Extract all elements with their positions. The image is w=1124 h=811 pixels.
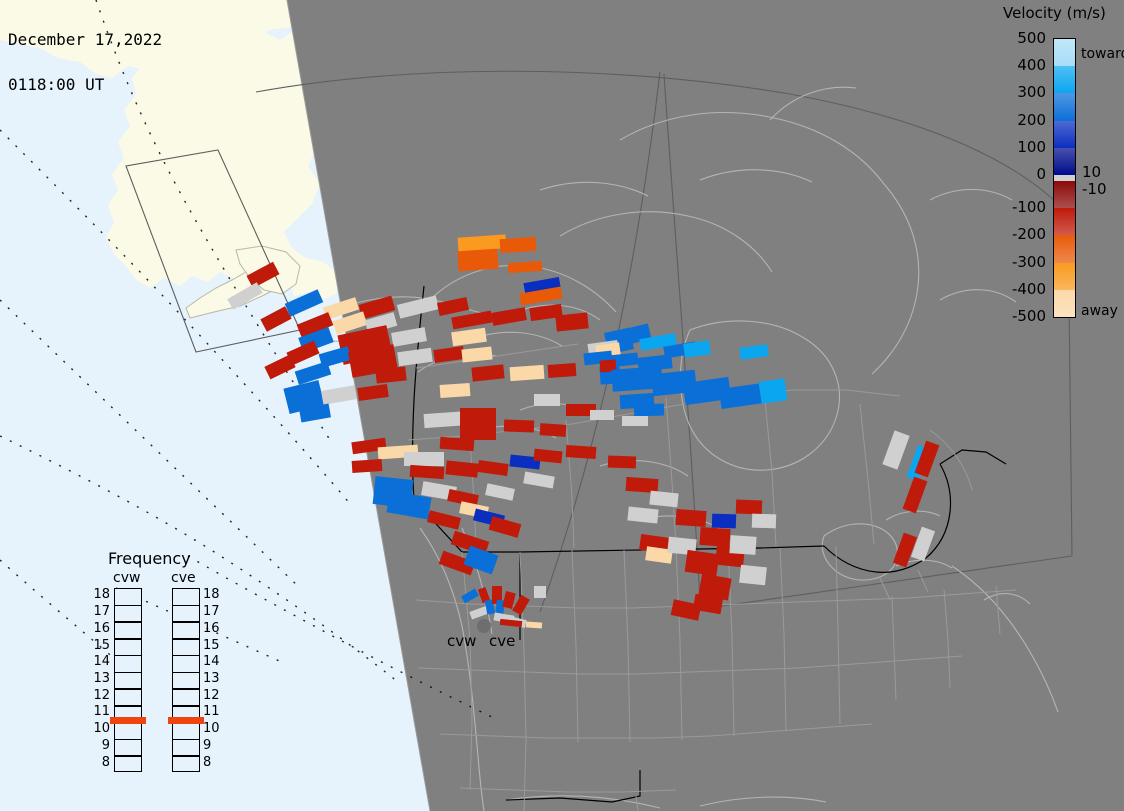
colorbar-toward-label: toward bbox=[1081, 46, 1124, 62]
frequency-marker-cvw bbox=[110, 717, 146, 724]
frequency-gridline bbox=[173, 739, 199, 741]
frequency-gridline bbox=[173, 655, 199, 657]
frequency-channel-label-cve: cve bbox=[171, 570, 196, 586]
frequency-gridline bbox=[115, 621, 141, 623]
frequency-gridline bbox=[115, 672, 141, 674]
frequency-gridline bbox=[115, 705, 141, 707]
colorbar-inner-neg-label: -10 bbox=[1082, 180, 1107, 198]
frequency-tick-18: 18 bbox=[90, 587, 110, 602]
frequency-gridline bbox=[115, 755, 141, 757]
timestamp-block: December 17,2022 0118:00 UT bbox=[8, 2, 162, 122]
site-label-cve: cve bbox=[489, 632, 515, 650]
colorbar-tick--300: -300 bbox=[1000, 253, 1046, 271]
superdarn-velocity-map: cvw cve December 17,2022 0118:00 UT Velo… bbox=[0, 0, 1124, 811]
frequency-tick-15: 15 bbox=[203, 638, 223, 653]
frequency-tick-16: 16 bbox=[90, 621, 110, 636]
frequency-tick-12: 12 bbox=[203, 688, 223, 703]
frequency-tick-16: 16 bbox=[203, 621, 223, 636]
frequency-tick-10: 10 bbox=[90, 721, 110, 736]
colorbar-band-8 bbox=[1054, 235, 1075, 263]
colorbar-inner-pos-label: 10 bbox=[1082, 163, 1101, 181]
colorbar-band-7 bbox=[1054, 208, 1075, 236]
frequency-bar-cve bbox=[172, 588, 200, 772]
frequency-tick-13: 13 bbox=[203, 671, 223, 686]
colorbar-tick-500: 500 bbox=[1000, 29, 1046, 47]
frequency-tick-18: 18 bbox=[203, 587, 223, 602]
colorbar-tick--100: -100 bbox=[1000, 198, 1046, 216]
frequency-gridline bbox=[173, 621, 199, 623]
frequency-gridline bbox=[173, 688, 199, 690]
colorbar-tick-200: 200 bbox=[1000, 111, 1046, 129]
frequency-tick-8: 8 bbox=[203, 755, 223, 770]
colorbar-tick--500: -500 bbox=[1000, 307, 1046, 325]
colorbar-band-6 bbox=[1054, 181, 1075, 209]
frequency-gridline bbox=[115, 638, 141, 640]
frequency-tick-11: 11 bbox=[90, 704, 110, 719]
frequency-gridline bbox=[173, 755, 199, 757]
colorbar-tick-300: 300 bbox=[1000, 83, 1046, 101]
frequency-gridline bbox=[115, 739, 141, 741]
colorbar-tick--200: -200 bbox=[1000, 225, 1046, 243]
frequency-tick-12: 12 bbox=[90, 688, 110, 703]
frequency-tick-9: 9 bbox=[203, 738, 223, 753]
frequency-gridline bbox=[173, 705, 199, 707]
site-label-cvw: cvw bbox=[447, 632, 476, 650]
frequency-tick-9: 9 bbox=[90, 738, 110, 753]
colorbar-band-0 bbox=[1054, 39, 1075, 67]
frequency-tick-17: 17 bbox=[90, 604, 110, 619]
frequency-tick-13: 13 bbox=[90, 671, 110, 686]
frequency-gridline bbox=[115, 605, 141, 607]
radar-site-layer bbox=[0, 0, 1124, 811]
frequency-tick-8: 8 bbox=[90, 755, 110, 770]
colorbar-tick-400: 400 bbox=[1000, 56, 1046, 74]
colorbar-tick-0: 0 bbox=[1000, 165, 1046, 183]
frequency-tick-14: 14 bbox=[203, 654, 223, 669]
frequency-channel-label-cvw: cvw bbox=[113, 570, 140, 586]
frequency-tick-14: 14 bbox=[90, 654, 110, 669]
colorbar-tick-100: 100 bbox=[1000, 138, 1046, 156]
frequency-bar-cvw bbox=[114, 588, 142, 772]
frequency-gridline bbox=[115, 688, 141, 690]
colorbar-band-10 bbox=[1054, 290, 1075, 317]
time-text: 0118:00 UT bbox=[8, 77, 162, 92]
date-text: December 17,2022 bbox=[8, 32, 162, 47]
frequency-gridline bbox=[115, 655, 141, 657]
colorbar-title: Velocity (m/s) bbox=[1003, 4, 1106, 22]
colorbar-band-9 bbox=[1054, 263, 1075, 291]
frequency-tick-15: 15 bbox=[90, 638, 110, 653]
frequency-tick-10: 10 bbox=[203, 721, 223, 736]
frequency-gridline bbox=[173, 638, 199, 640]
colorbar-band-2 bbox=[1054, 93, 1075, 121]
frequency-marker-cve bbox=[168, 717, 204, 724]
colorbar-tick--400: -400 bbox=[1000, 280, 1046, 298]
frequency-title: Frequency bbox=[108, 549, 191, 568]
colorbar-band-4 bbox=[1054, 148, 1075, 176]
colorbar-band-3 bbox=[1054, 121, 1075, 149]
frequency-tick-17: 17 bbox=[203, 604, 223, 619]
colorbar-away-label: away bbox=[1081, 303, 1118, 319]
velocity-colorbar bbox=[1053, 38, 1076, 318]
radar-site-marker bbox=[477, 619, 491, 633]
frequency-gridline bbox=[173, 672, 199, 674]
frequency-tick-11: 11 bbox=[203, 704, 223, 719]
colorbar-band-1 bbox=[1054, 66, 1075, 94]
frequency-gridline bbox=[173, 605, 199, 607]
